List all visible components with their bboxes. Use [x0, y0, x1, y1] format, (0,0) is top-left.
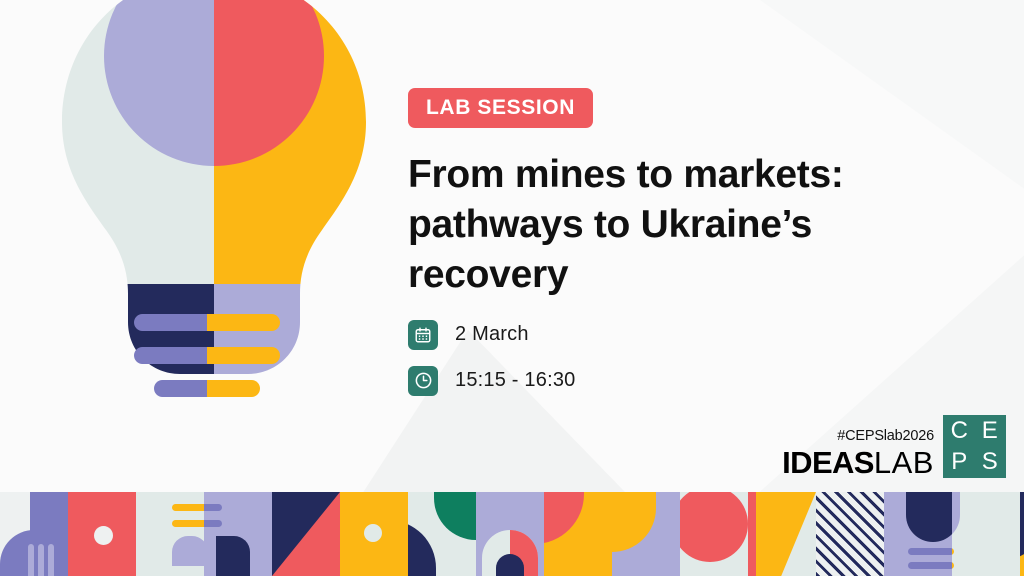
pattern-tile [816, 492, 884, 576]
ceps-letter-c: C [945, 417, 974, 446]
pattern-tile [408, 492, 476, 576]
ideaslab-lab-text: LAB [874, 447, 934, 478]
page-title: From mines to markets: pathways to Ukrai… [408, 150, 908, 300]
content-column: LAB SESSION From mines to markets: pathw… [408, 88, 928, 412]
event-poster: LAB SESSION From mines to markets: pathw… [0, 0, 1024, 576]
lightbulb-rays [134, 314, 304, 404]
ray-bar [134, 314, 280, 331]
ideaslab-logo: #CEPSlab2026 IDEASLAB [782, 428, 934, 478]
event-time-text: 15:15 - 16:30 [455, 369, 575, 392]
pattern-tile [68, 492, 136, 576]
calendar-icon [408, 320, 438, 350]
logo-lockup: #CEPSlab2026 IDEASLAB C E P S [782, 415, 1006, 478]
ideaslab-wordmark: IDEASLAB [782, 447, 934, 478]
ceps-letter-s: S [976, 448, 1005, 477]
ideaslab-ideas-text: IDEAS [782, 447, 874, 478]
ray-bar [134, 347, 280, 364]
pattern-tile [204, 492, 272, 576]
pattern-tile [476, 492, 544, 576]
pattern-tile [272, 492, 340, 576]
event-meta: 2 March 15:15 - 16:30 [408, 320, 928, 396]
ceps-logo: C E P S [943, 415, 1006, 478]
pattern-tile [544, 492, 612, 576]
bottom-pattern-strip [0, 492, 1024, 576]
event-date-text: 2 March [455, 323, 529, 346]
pattern-tile [1020, 492, 1024, 576]
ray-bar [154, 380, 260, 397]
ceps-letter-p: P [945, 448, 974, 477]
pattern-tile [748, 492, 816, 576]
clock-icon [408, 366, 438, 396]
pattern-tile [136, 492, 204, 576]
pattern-tile [0, 492, 68, 576]
pattern-tile [340, 492, 408, 576]
pattern-tile [952, 492, 1020, 576]
pattern-tile [680, 492, 748, 576]
hashtag-text: #CEPSlab2026 [837, 428, 934, 444]
event-date-row: 2 March [408, 320, 928, 350]
pattern-tile [612, 492, 680, 576]
pattern-tile [884, 492, 952, 576]
ceps-letter-e: E [976, 417, 1005, 446]
event-time-row: 15:15 - 16:30 [408, 366, 928, 396]
session-type-badge: LAB SESSION [408, 88, 593, 128]
